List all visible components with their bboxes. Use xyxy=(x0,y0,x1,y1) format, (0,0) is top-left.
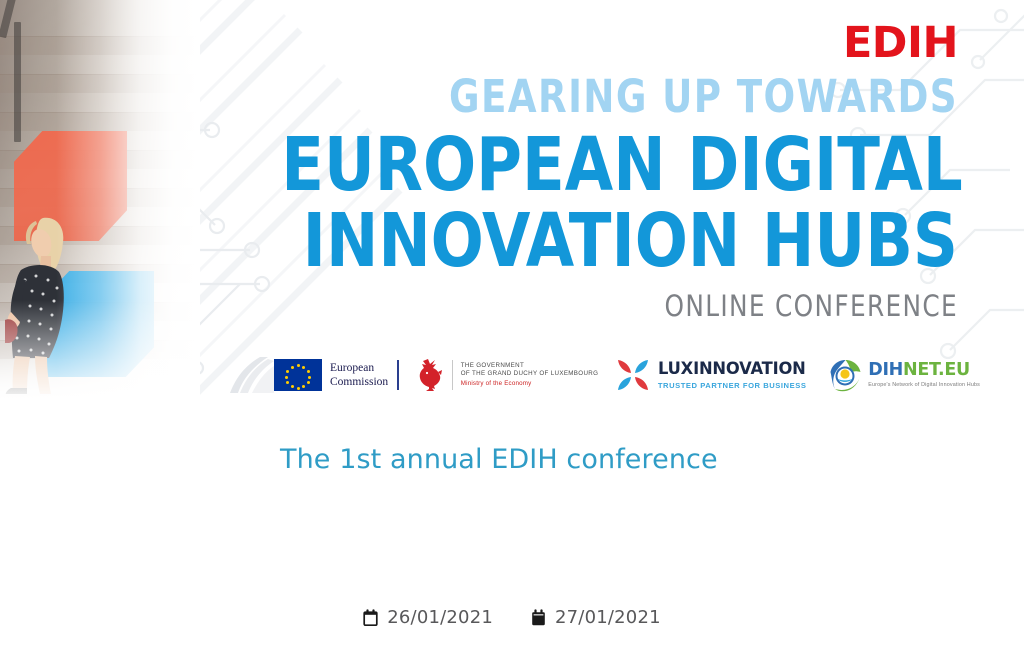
lux-wordmark: THE GOVERNMENT OF THE GRAND DUCHY OF LUX… xyxy=(461,362,598,388)
photo-fade-bottom-overlay xyxy=(0,300,200,404)
luxinnovation-name: LUXINNOVATION xyxy=(658,361,806,378)
dihnet-name: DIHNET.EU xyxy=(868,362,980,380)
logo-dihnet-eu: DIHNET.EU Europe's Network of Digital In… xyxy=(829,352,980,398)
luxinnovation-tagline: TRUSTED PARTNER FOR BUSINESS xyxy=(658,381,812,390)
eu-flag-icon xyxy=(274,359,322,391)
headline-line-gearing: GEARING UP TOWARDS xyxy=(296,74,958,121)
calendar-solid-icon xyxy=(531,609,546,626)
dihnet-name-part-1: DIH xyxy=(868,360,903,380)
edih-logo-text: EDIH xyxy=(238,22,958,65)
banner-photo-collage xyxy=(0,0,200,404)
page-title: The 1st annual EDIH conference xyxy=(280,444,718,475)
banner-headline: EDIH GEARING UP TOWARDS EUROPEAN DIGITAL… xyxy=(238,22,958,321)
luxembourg-lion-icon xyxy=(417,358,443,392)
headline-line-european: EUROPEAN DIGITAL xyxy=(281,128,958,202)
ec-divider xyxy=(397,360,399,390)
event-date-label: 26/01/2021 xyxy=(387,607,493,628)
calendar-outline-icon xyxy=(363,609,378,626)
dihnet-globe-icon xyxy=(829,359,862,392)
logo-european-commission: European Commission xyxy=(230,352,399,398)
luxinnovation-wordmark: LUXINNOVATION TRUSTED PARTNER FOR BUSINE… xyxy=(658,361,812,390)
logo-government-luxembourg: THE GOVERNMENT OF THE GRAND DUCHY OF LUX… xyxy=(417,352,598,398)
lux-line-2: OF THE GRAND DUCHY OF LUXEMBOURG xyxy=(461,370,598,378)
ec-emblem-swoosh-icon xyxy=(230,357,274,393)
event-dates-row: 26/01/2021 27/01/2021 xyxy=(0,607,1024,628)
page-content: The 1st annual EDIH conference 26/01/202… xyxy=(0,404,1024,663)
lux-divider xyxy=(452,360,453,390)
dihnet-wordmark: DIHNET.EU Europe's Network of Digital In… xyxy=(868,362,980,389)
dihnet-tagline: Europe's Network of Digital Innovation H… xyxy=(868,382,980,388)
headline-line-innovation: INNOVATION HUBS xyxy=(281,204,958,278)
dihnet-name-part-2: NET.EU xyxy=(903,360,970,380)
lux-line-1: THE GOVERNMENT xyxy=(461,362,598,370)
logo-luxinnovation: LUXINNOVATION TRUSTED PARTNER FOR BUSINE… xyxy=(616,352,812,398)
event-date-label: 27/01/2021 xyxy=(555,607,661,628)
partner-logos-row: European Commission THE GOVERNMENT OF TH… xyxy=(230,350,980,400)
lux-line-3: Ministry of the Economy xyxy=(461,380,598,388)
event-date-item: 27/01/2021 xyxy=(531,607,661,628)
headline-line-online: ONLINE CONFERENCE xyxy=(274,292,958,321)
conference-banner: EDIH GEARING UP TOWARDS EUROPEAN DIGITAL… xyxy=(0,0,1024,404)
ec-line-2: Commission xyxy=(330,375,388,389)
ec-line-1: European xyxy=(330,361,388,375)
ec-wordmark: European Commission xyxy=(330,361,388,390)
event-date-item: 26/01/2021 xyxy=(363,607,493,628)
luxinnovation-cross-icon xyxy=(616,358,650,392)
